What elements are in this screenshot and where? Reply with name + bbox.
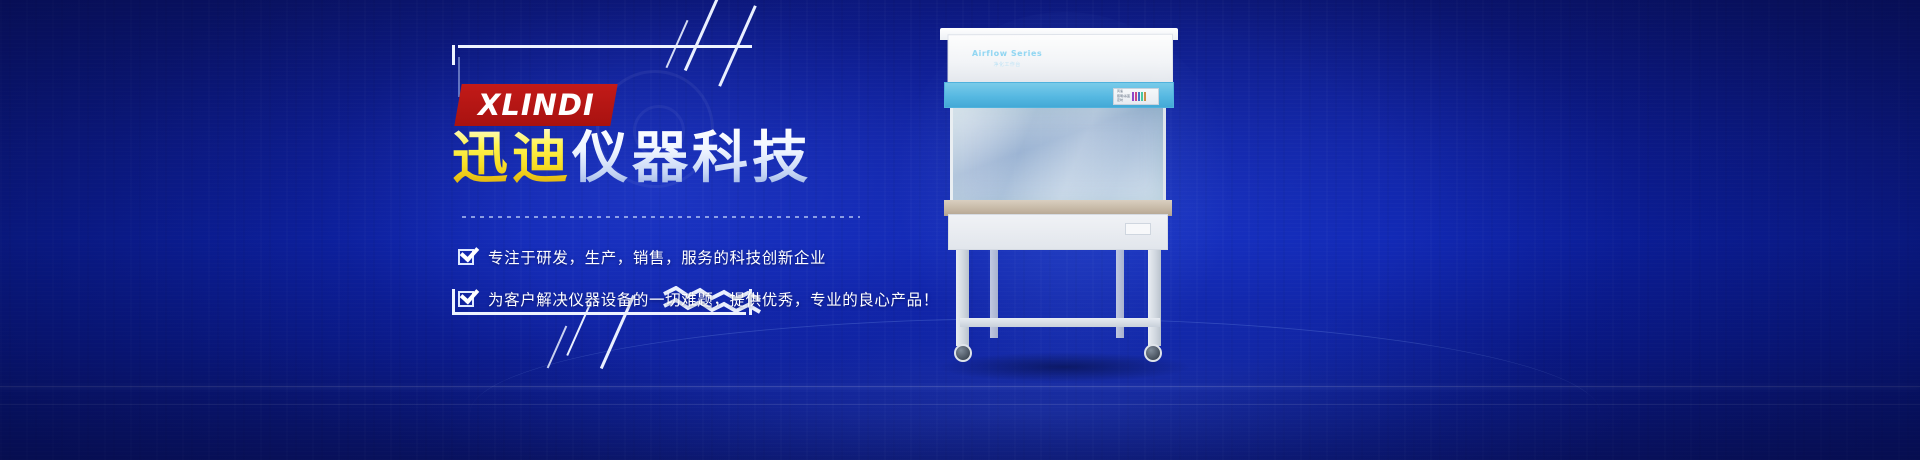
panel-button[interactable] — [1141, 92, 1143, 101]
control-panel-label: 定时 — [1117, 99, 1130, 102]
cabinet-leg — [956, 250, 969, 346]
frame-line-top — [458, 45, 752, 48]
control-panel[interactable]: 风速 照明/杀菌 定时 — [1113, 88, 1159, 105]
panel-button[interactable] — [1144, 92, 1146, 101]
diagonal-slash-icon — [718, 5, 757, 87]
cabinet-cross-brace — [960, 318, 1160, 327]
page-title-highlight: 迅迪 — [452, 126, 572, 191]
brand-logo-badge: XLINDI — [454, 84, 617, 126]
frame-line-top-left — [452, 45, 455, 65]
panel-button[interactable] — [1135, 92, 1137, 101]
panel-button[interactable] — [1132, 92, 1134, 101]
diagonal-slash-icon — [547, 326, 568, 369]
cabinet-caster-wheel — [1144, 344, 1162, 362]
cabinet-leg — [1148, 250, 1161, 346]
horizon-line-secondary — [0, 404, 1920, 405]
list-item-label: 专注于研发，生产，销售，服务的科技创新企业 — [488, 246, 826, 268]
control-panel-buttons[interactable] — [1132, 92, 1146, 101]
cabinet-top-housing: Airflow Series 净化工作台 — [948, 34, 1173, 87]
cabinet-glass-sash — [950, 108, 1166, 204]
promo-banner: XLINDI 迅迪仪器科技 专注于研发，生产，销售，服务的科技创新企业 为客户解… — [0, 0, 1920, 460]
panel-button[interactable] — [1138, 92, 1140, 101]
cabinet-brand-sublabel: 净化工作台 — [994, 61, 1021, 68]
dotted-divider — [462, 216, 860, 218]
product-image-clean-bench: Airflow Series 净化工作台 风速 照明/杀菌 定时 — [930, 22, 1200, 362]
diagonal-slash-icon — [684, 0, 719, 71]
cabinet-caster-wheel — [954, 344, 972, 362]
cabinet-lower-apron — [948, 214, 1168, 250]
horizon-line-primary — [0, 386, 1920, 387]
cabinet-spec-sticker — [1125, 223, 1151, 235]
check-icon — [458, 249, 474, 265]
list-item-label: 为客户解决仪器设备的一切难题，提供优秀，专业的良心产品！ — [488, 288, 939, 310]
diagonal-slash-icon — [666, 20, 689, 68]
check-icon — [458, 291, 474, 307]
frame-line-bottom-left — [452, 289, 455, 315]
cabinet-brand-label: Airflow Series — [972, 49, 1042, 58]
brand-logo-text: XLINDI — [478, 88, 595, 122]
page-title-rest: 仪器科技 — [572, 126, 812, 191]
cabinet-blue-band: 风速 照明/杀菌 定时 — [944, 82, 1174, 108]
